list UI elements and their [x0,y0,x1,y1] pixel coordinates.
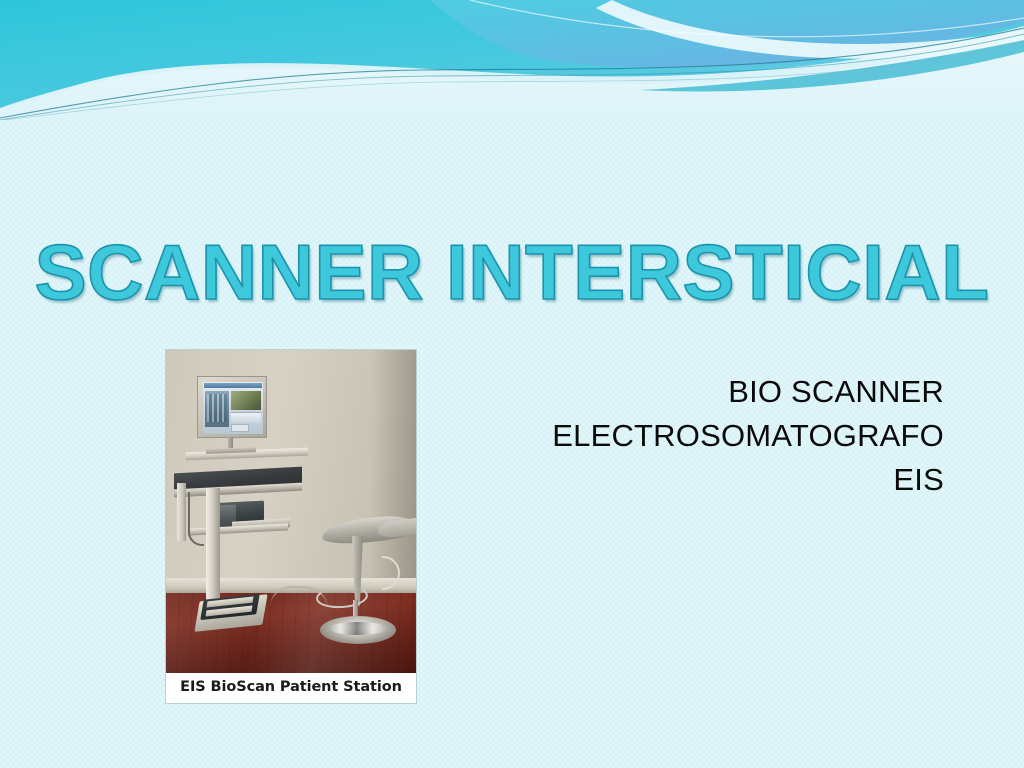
presentation-slide: SCANNER INTERSTICIAL [0,0,1024,768]
screen-panel-image [231,391,261,410]
stool-base-highlight [329,622,387,635]
body-line-1: BIO SCANNER [520,370,944,414]
body-text-block: BIO SCANNER ELECTROSOMATOGRAFO EIS [520,370,944,502]
wall-shadow [370,350,416,593]
title-container: SCANNER INTERSTICIAL [0,232,1024,314]
screen-titlebar [204,383,262,388]
body-line-2: ELECTROSOMATOGRAFO [520,414,944,458]
page-title: SCANNER INTERSTICIAL [35,232,990,314]
monitor-screen [203,382,263,434]
monitor-bezel [197,376,267,438]
screen-panel-button [231,424,249,432]
photo-figure: EIS BioScan Patient Station [166,350,416,703]
cable [188,492,204,546]
wave-banner-decoration [0,0,1024,120]
patient-station-photo [166,350,416,673]
cart-column [206,488,220,600]
body-line-3: EIS [520,458,944,502]
photo-caption: EIS BioScan Patient Station [166,673,416,703]
screen-panel-left [205,391,229,427]
screen-panel-chart [231,412,261,423]
cart-column-left [177,483,186,541]
